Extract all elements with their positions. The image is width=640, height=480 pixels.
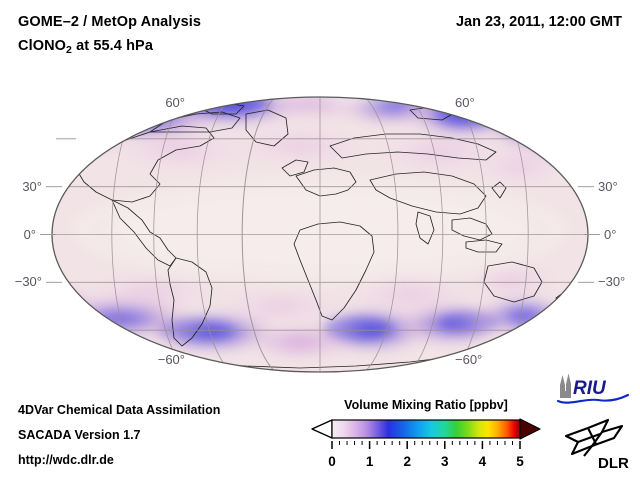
colorbar-ticks: 012345: [328, 441, 524, 469]
page-title-species: ClONO2 at 55.4 hPa: [18, 38, 153, 54]
colorbar-tick-label: 4: [479, 454, 487, 469]
page-title-instrument: GOME–2 / MetOp Analysis: [18, 14, 201, 30]
lat-label-right-m60: −60°: [455, 352, 482, 367]
lat-label-left-60: 60°: [165, 95, 185, 110]
lat-label-left-30: 30°: [22, 179, 42, 194]
footer-method: 4DVar Chemical Data Assimilation: [18, 403, 220, 417]
timestamp: Jan 23, 2011, 12:00 GMT: [456, 14, 622, 30]
lat-label-right-m30: −30°: [598, 274, 625, 289]
colorbar-tick-label: 2: [403, 454, 411, 469]
cathedral-icon: [560, 374, 571, 399]
dlr-logo: DLR: [562, 414, 634, 472]
colorbar-tick-label: 1: [366, 454, 374, 469]
lat-label-right-30: 30°: [598, 179, 618, 194]
species-level: at 55.4 hPa: [72, 38, 153, 54]
riu-logo: RIU: [552, 372, 634, 408]
lat-label-left-m60: −60°: [158, 352, 185, 367]
colorbar: Volume Mixing Ratio [ppbv] 012345: [310, 398, 542, 476]
map-container: 60° 30° 0° −30° −60° 60° 30° 0° −30° −60…: [0, 80, 640, 380]
riu-logo-text: RIU: [573, 378, 607, 399]
footer-version: SACADA Version 1.7: [18, 428, 141, 442]
lat-label-right-60: 60°: [455, 95, 475, 110]
dlr-mark-icon: [566, 420, 622, 456]
colorbar-scale: 012345: [310, 418, 542, 476]
colorbar-tick-label: 0: [328, 454, 336, 469]
lat-label-right-0: 0°: [604, 227, 616, 242]
colorbar-gradient: [332, 420, 520, 438]
colorbar-tick-label: 3: [441, 454, 449, 469]
footer-url[interactable]: http://wdc.dlr.de: [18, 453, 114, 467]
lat-label-left-0: 0°: [24, 227, 36, 242]
colorbar-low-cap: [312, 420, 332, 438]
colorbar-title: Volume Mixing Ratio [ppbv]: [310, 398, 542, 412]
species-subscript: 2: [66, 44, 72, 56]
colorbar-tick-label: 5: [516, 454, 524, 469]
species-name: ClONO: [18, 38, 66, 54]
colorbar-high-cap: [520, 419, 540, 439]
mollweide-map: 60° 30° 0° −30° −60° 60° 30° 0° −30° −60…: [0, 80, 640, 380]
dlr-logo-text: DLR: [598, 455, 629, 472]
lat-label-left-m30: −30°: [15, 274, 42, 289]
